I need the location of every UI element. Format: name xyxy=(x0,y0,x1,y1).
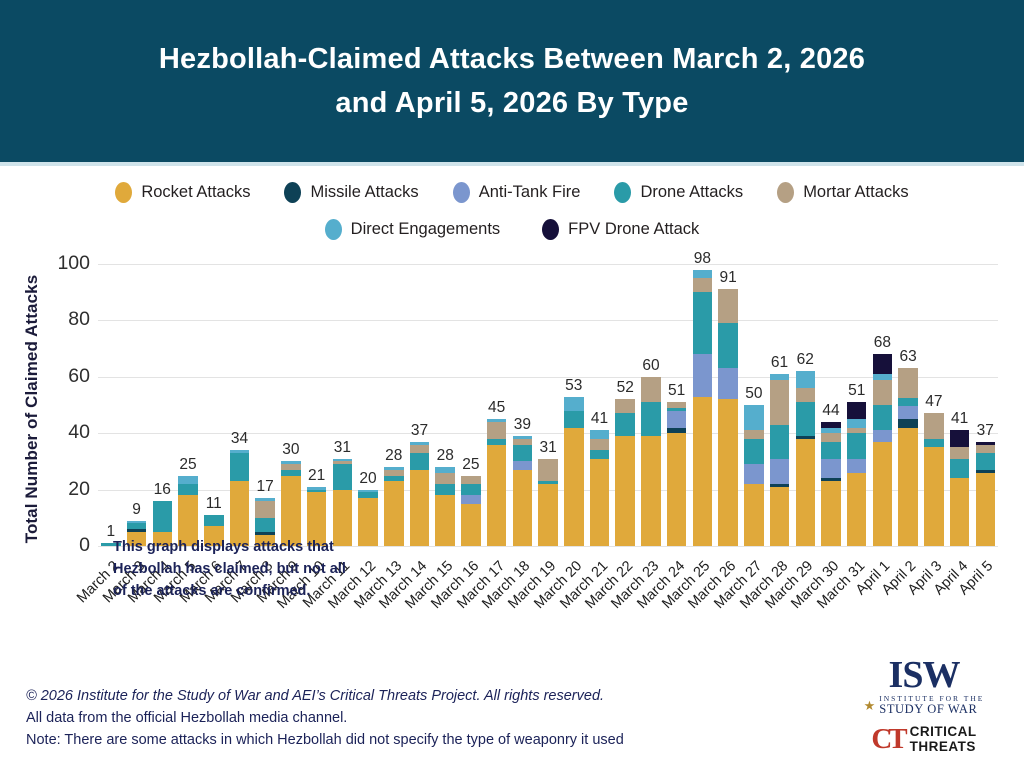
bar-column[interactable]: 30 xyxy=(278,264,304,546)
bar-segment-rocket-attacks[interactable] xyxy=(461,504,481,546)
bar-segment-rocket-attacks[interactable] xyxy=(770,487,790,546)
header-divider xyxy=(0,162,1024,166)
bar-total-label: 37 xyxy=(977,422,994,440)
bar-segment-mortar-attacks[interactable] xyxy=(461,476,481,484)
bar-segment-rocket-attacks[interactable] xyxy=(950,478,970,546)
bar-segment-rocket-attacks[interactable] xyxy=(538,484,558,546)
y-axis-tick-label: 0 xyxy=(28,534,90,557)
bar-column[interactable]: 44 xyxy=(818,264,844,546)
bar-segment-rocket-attacks[interactable] xyxy=(590,459,610,546)
legend-row-primary: Rocket AttacksMissile AttacksAnti-Tank F… xyxy=(115,182,908,203)
bar-segment-mortar-attacks[interactable] xyxy=(435,473,455,484)
bar-segment-anti-tank-fire[interactable] xyxy=(821,459,841,479)
bar-total-label: 44 xyxy=(822,402,839,420)
bar-column[interactable]: 17 xyxy=(252,264,278,546)
bar-total-label: 39 xyxy=(514,416,531,434)
legend-item-label: Rocket Attacks xyxy=(141,183,250,202)
bar-column[interactable]: 31 xyxy=(329,264,355,546)
bar-segment-rocket-attacks[interactable] xyxy=(898,428,918,546)
footer-note: Note: There are some attacks in which He… xyxy=(26,732,786,748)
legend-item-label: Direct Engagements xyxy=(351,220,501,239)
legend-swatch-icon xyxy=(614,182,631,203)
bar-segment-drone-attacks[interactable] xyxy=(770,425,790,459)
bar-stack[interactable]: 44 xyxy=(821,422,841,546)
bar-segment-fpv-drone-attack[interactable] xyxy=(847,402,867,419)
annotation-line-2: Hezbollah has claimed, but not all xyxy=(113,559,346,581)
bar-column[interactable]: 31 xyxy=(535,264,561,546)
legend-swatch-icon xyxy=(777,182,794,203)
bar-segment-drone-attacks[interactable] xyxy=(513,445,533,462)
y-axis-tick-label: 40 xyxy=(28,421,90,444)
bar-column[interactable]: 28 xyxy=(432,264,458,546)
bar-total-label: 17 xyxy=(257,478,274,496)
bar-segment-rocket-attacks[interactable] xyxy=(873,442,893,546)
bar-column[interactable]: 60 xyxy=(638,264,664,546)
bar-segment-drone-attacks[interactable] xyxy=(924,439,944,447)
bar-stack[interactable]: 68 xyxy=(873,354,893,546)
bar-segment-direct-engagements[interactable] xyxy=(693,270,713,278)
bar-total-label: 60 xyxy=(642,357,659,375)
bar-segment-drone-attacks[interactable] xyxy=(333,464,353,489)
legend-item-rocket-attacks[interactable]: Rocket Attacks xyxy=(115,182,250,203)
bar-segment-mortar-attacks[interactable] xyxy=(950,447,970,458)
bar-segment-mortar-attacks[interactable] xyxy=(693,278,713,292)
critical-threats-logo: CT CRITICAL THREATS xyxy=(844,725,1004,754)
isw-wordmark: ISW xyxy=(844,656,1004,694)
chart-container: Total Number of Claimed Attacks 02040608… xyxy=(0,254,1024,654)
bar-segment-direct-engagements[interactable] xyxy=(744,405,764,430)
legend-item-label: Drone Attacks xyxy=(640,183,743,202)
plot-area: 020406080100 191625113417302131202837282… xyxy=(98,264,998,546)
bar-stack[interactable]: 62 xyxy=(796,371,816,546)
bar-stack[interactable]: 37 xyxy=(976,442,996,546)
x-axis-label-slot: April 4 xyxy=(947,550,973,650)
legend-item-drone-attacks[interactable]: Drone Attacks xyxy=(614,182,743,203)
bar-column[interactable]: 51 xyxy=(844,264,870,546)
bar-total-label: 53 xyxy=(565,377,582,395)
bar-stack[interactable]: 31 xyxy=(538,459,558,546)
bar-column[interactable]: 37 xyxy=(407,264,433,546)
bar-column[interactable]: 20 xyxy=(355,264,381,546)
bar-segment-drone-attacks[interactable] xyxy=(796,402,816,436)
bar-total-label: 41 xyxy=(591,410,608,428)
bar-stack[interactable]: 25 xyxy=(461,476,481,547)
bar-segment-drone-attacks[interactable] xyxy=(153,501,173,532)
y-axis-tick-label: 60 xyxy=(28,365,90,388)
legend-swatch-icon xyxy=(542,219,559,240)
bar-segment-drone-attacks[interactable] xyxy=(435,484,455,495)
x-axis-label-slot: April 5 xyxy=(972,550,998,650)
legend-item-direct-engagements[interactable]: Direct Engagements xyxy=(325,219,501,240)
bar-total-label: 25 xyxy=(462,456,479,474)
legend-item-label: FPV Drone Attack xyxy=(568,220,699,239)
bar-segment-mortar-attacks[interactable] xyxy=(976,445,996,453)
legend-item-label: Anti-Tank Fire xyxy=(479,183,581,202)
bar-total-label: 61 xyxy=(771,354,788,372)
bar-column[interactable]: 41 xyxy=(947,264,973,546)
bar-total-label: 62 xyxy=(797,351,814,369)
y-axis-tick-label: 100 xyxy=(28,252,90,275)
bar-total-label: 68 xyxy=(874,334,891,352)
bar-stack[interactable]: 39 xyxy=(513,436,533,546)
bar-total-label: 50 xyxy=(745,385,762,403)
bar-column[interactable]: 41 xyxy=(587,264,613,546)
annotation-line-3: of the attacks are confirmed. xyxy=(113,581,346,603)
bar-total-label: 47 xyxy=(925,393,942,411)
bar-segment-drone-attacks[interactable] xyxy=(693,292,713,354)
bar-column[interactable]: 25 xyxy=(458,264,484,546)
bar-stack[interactable]: 52 xyxy=(615,399,635,546)
bar-segment-direct-engagements[interactable] xyxy=(847,419,867,427)
bar-column[interactable]: 39 xyxy=(510,264,536,546)
bar-segment-direct-engagements[interactable] xyxy=(564,397,584,411)
bar-total-label: 21 xyxy=(308,467,325,485)
y-axis-tick-label: 20 xyxy=(28,478,90,501)
legend-item-missile-attacks[interactable]: Missile Attacks xyxy=(284,182,418,203)
bar-column[interactable]: 50 xyxy=(741,264,767,546)
legend-swatch-icon xyxy=(115,182,132,203)
bar-total-label: 63 xyxy=(900,348,917,366)
isw-tagline-row: ★ INSTITUTE FOR THE STUDY OF WAR xyxy=(844,695,1004,716)
bar-column[interactable]: 28 xyxy=(381,264,407,546)
bar-segment-drone-attacks[interactable] xyxy=(590,450,610,458)
y-axis-tick-label: 80 xyxy=(28,308,90,331)
bar-stack[interactable]: 25 xyxy=(178,476,198,547)
bar-column[interactable]: 1 xyxy=(98,264,124,546)
bar-stack[interactable]: 53 xyxy=(564,397,584,546)
bar-segment-fpv-drone-attack[interactable] xyxy=(873,354,893,374)
legend-swatch-icon xyxy=(284,182,301,203)
bar-segment-anti-tank-fire[interactable] xyxy=(873,430,893,441)
bar-segment-anti-tank-fire[interactable] xyxy=(770,459,790,484)
chart-annotation: This graph displays attacks that Hezboll… xyxy=(113,537,346,602)
bar-stack[interactable]: 37 xyxy=(410,442,430,546)
bar-segment-drone-attacks[interactable] xyxy=(898,398,918,406)
bar-segment-anti-tank-fire[interactable] xyxy=(718,368,738,399)
bar-segment-anti-tank-fire[interactable] xyxy=(513,461,533,469)
bar-segment-direct-engagements[interactable] xyxy=(178,476,198,484)
bar-segment-anti-tank-fire[interactable] xyxy=(693,354,713,396)
bar-segment-mortar-attacks[interactable] xyxy=(744,430,764,438)
footer: © 2026 Institute for the Study of War an… xyxy=(26,688,786,754)
bar-segment-rocket-attacks[interactable] xyxy=(615,436,635,546)
legend-item-anti-tank-fire[interactable]: Anti-Tank Fire xyxy=(453,182,581,203)
bar-stack[interactable]: 28 xyxy=(435,467,455,546)
y-axis-title: Total Number of Claimed Attacks xyxy=(22,259,42,559)
bar-total-label: 11 xyxy=(206,495,222,513)
legend-swatch-icon xyxy=(325,219,342,240)
bar-stack[interactable]: 41 xyxy=(950,430,970,546)
bar-column[interactable]: 37 xyxy=(972,264,998,546)
bar-segment-rocket-attacks[interactable] xyxy=(435,495,455,546)
bar-segment-mortar-attacks[interactable] xyxy=(924,413,944,438)
star-icon: ★ xyxy=(864,699,876,712)
bar-total-label: 51 xyxy=(848,382,865,400)
bar-segment-rocket-attacks[interactable] xyxy=(796,439,816,546)
bar-total-label: 41 xyxy=(951,410,968,428)
x-axis-label-slot: April 3 xyxy=(921,550,947,650)
bar-segment-drone-attacks[interactable] xyxy=(230,453,250,481)
bar-stack[interactable]: 91 xyxy=(718,289,738,546)
bar-column[interactable]: 61 xyxy=(767,264,793,546)
bar-column[interactable]: 34 xyxy=(227,264,253,546)
bar-stack[interactable]: 61 xyxy=(770,374,790,546)
ct-monogram: CT xyxy=(871,725,903,754)
bar-segment-mortar-attacks[interactable] xyxy=(615,399,635,413)
bar-segment-rocket-attacks[interactable] xyxy=(641,436,661,546)
bar-segment-drone-attacks[interactable] xyxy=(821,442,841,459)
bar-segment-mortar-attacks[interactable] xyxy=(538,459,558,482)
bar-total-label: 31 xyxy=(334,439,351,457)
bar-segment-drone-attacks[interactable] xyxy=(178,484,198,495)
page-title-line-1: Hezbollah-Claimed Attacks Between March … xyxy=(159,37,865,81)
bar-segment-missile-attacks[interactable] xyxy=(898,419,918,427)
x-axis-label-slot: March 31 xyxy=(844,550,870,650)
bar-column[interactable]: 9 xyxy=(124,264,150,546)
bar-stack[interactable]: 28 xyxy=(384,467,404,546)
bar-segment-drone-attacks[interactable] xyxy=(410,453,430,470)
bar-stack[interactable]: 51 xyxy=(847,402,867,546)
bar-segment-drone-attacks[interactable] xyxy=(873,405,893,430)
footer-copyright: © 2026 Institute for the Study of War an… xyxy=(26,688,786,704)
bar-stack[interactable]: 34 xyxy=(230,450,250,546)
bar-segment-rocket-attacks[interactable] xyxy=(281,476,301,546)
legend-item-mortar-attacks[interactable]: Mortar Attacks xyxy=(777,182,908,203)
bar-stack[interactable]: 45 xyxy=(487,419,507,546)
bar-segment-drone-attacks[interactable] xyxy=(461,484,481,495)
bar-segment-rocket-attacks[interactable] xyxy=(667,433,687,546)
bar-segment-direct-engagements[interactable] xyxy=(796,371,816,388)
bar-segment-rocket-attacks[interactable] xyxy=(564,428,584,546)
bar-segment-mortar-attacks[interactable] xyxy=(770,380,790,425)
bar-total-label: 45 xyxy=(488,399,505,417)
bar-column[interactable]: 52 xyxy=(612,264,638,546)
bar-segment-mortar-attacks[interactable] xyxy=(410,445,430,453)
bar-segment-mortar-attacks[interactable] xyxy=(641,377,661,402)
bar-segment-mortar-attacks[interactable] xyxy=(898,368,918,398)
page-title-line-2: and April 5, 2026 By Type xyxy=(335,81,688,125)
bar-column[interactable]: 62 xyxy=(792,264,818,546)
bar-total-label: 16 xyxy=(154,481,171,499)
bar-column[interactable]: 45 xyxy=(484,264,510,546)
bar-segment-drone-attacks[interactable] xyxy=(976,453,996,470)
chart-legend: Rocket AttacksMissile AttacksAnti-Tank F… xyxy=(0,182,1024,240)
bar-segment-fpv-drone-attack[interactable] xyxy=(950,430,970,447)
bar-total-label: 34 xyxy=(231,430,248,448)
bar-column[interactable]: 11 xyxy=(201,264,227,546)
bar-segment-mortar-attacks[interactable] xyxy=(255,501,275,518)
annotation-line-1: This graph displays attacks that xyxy=(113,537,346,559)
bar-column[interactable]: 16 xyxy=(149,264,175,546)
bar-segment-rocket-attacks[interactable] xyxy=(513,470,533,546)
bar-segment-drone-attacks[interactable] xyxy=(950,459,970,479)
bar-segment-drone-attacks[interactable] xyxy=(564,411,584,428)
bar-total-label: 28 xyxy=(385,447,402,465)
bar-segment-drone-attacks[interactable] xyxy=(204,515,224,526)
bar-stack[interactable]: 60 xyxy=(641,377,661,546)
bar-segment-anti-tank-fire[interactable] xyxy=(744,464,764,484)
bar-total-label: 20 xyxy=(359,470,376,488)
bar-column[interactable]: 53 xyxy=(561,264,587,546)
bar-total-label: 28 xyxy=(437,447,454,465)
bar-total-label: 51 xyxy=(668,382,685,400)
bar-column[interactable]: 63 xyxy=(895,264,921,546)
bar-segment-rocket-attacks[interactable] xyxy=(384,481,404,546)
bar-segment-drone-attacks[interactable] xyxy=(615,413,635,436)
bar-segment-rocket-attacks[interactable] xyxy=(718,399,738,546)
bar-segment-rocket-attacks[interactable] xyxy=(358,498,378,546)
bar-segment-anti-tank-fire[interactable] xyxy=(847,459,867,473)
bar-stack[interactable]: 98 xyxy=(693,270,713,546)
bar-segment-rocket-attacks[interactable] xyxy=(487,445,507,547)
bar-segment-rocket-attacks[interactable] xyxy=(410,470,430,546)
bar-segment-direct-engagements[interactable] xyxy=(590,430,610,438)
bar-segment-anti-tank-fire[interactable] xyxy=(461,495,481,503)
bar-column[interactable]: 47 xyxy=(921,264,947,546)
ct-wordmark-line-2: THREATS xyxy=(910,740,977,754)
bar-segment-drone-attacks[interactable] xyxy=(641,402,661,436)
bar-stack[interactable]: 31 xyxy=(333,459,353,546)
isw-logo: ISW ★ INSTITUTE FOR THE STUDY OF WAR xyxy=(844,656,1004,716)
footer-source: All data from the official Hezbollah med… xyxy=(26,710,786,726)
logo-group: ISW ★ INSTITUTE FOR THE STUDY OF WAR CT … xyxy=(844,656,1004,754)
bar-segment-anti-tank-fire[interactable] xyxy=(667,411,687,428)
bar-total-label: 91 xyxy=(719,269,736,287)
ct-wordmark: CRITICAL THREATS xyxy=(910,725,977,754)
bar-column[interactable]: 91 xyxy=(715,264,741,546)
bar-segment-drone-attacks[interactable] xyxy=(847,433,867,458)
bar-segment-rocket-attacks[interactable] xyxy=(744,484,764,546)
bar-stack[interactable]: 41 xyxy=(590,430,610,546)
bar-total-label: 9 xyxy=(132,501,141,519)
bar-column[interactable]: 21 xyxy=(304,264,330,546)
legend-item-label: Missile Attacks xyxy=(310,183,418,202)
bar-segment-rocket-attacks[interactable] xyxy=(847,473,867,546)
page-header: Hezbollah-Claimed Attacks Between March … xyxy=(0,0,1024,162)
bar-total-label: 52 xyxy=(617,379,634,397)
legend-row-secondary: Direct EngagementsFPV Drone Attack xyxy=(325,219,700,240)
bar-stack[interactable]: 30 xyxy=(281,461,301,546)
isw-tagline-line-2: STUDY OF WAR xyxy=(879,703,984,716)
bar-segment-mortar-attacks[interactable] xyxy=(873,380,893,405)
bar-segment-mortar-attacks[interactable] xyxy=(590,439,610,450)
bar-total-label: 98 xyxy=(694,250,711,268)
bar-stack[interactable]: 63 xyxy=(898,368,918,546)
x-axis-label-slot: April 2 xyxy=(895,550,921,650)
bar-segment-drone-attacks[interactable] xyxy=(744,439,764,464)
x-axis-label-slot: April 1 xyxy=(870,550,896,650)
bar-stack[interactable]: 51 xyxy=(667,402,687,546)
bar-stack[interactable]: 47 xyxy=(924,413,944,546)
bar-segment-mortar-attacks[interactable] xyxy=(487,422,507,439)
bar-segment-rocket-attacks[interactable] xyxy=(821,481,841,546)
legend-swatch-icon xyxy=(453,182,470,203)
ct-wordmark-line-1: CRITICAL xyxy=(910,725,977,739)
bar-segment-drone-attacks[interactable] xyxy=(255,518,275,532)
bar-segment-rocket-attacks[interactable] xyxy=(924,447,944,546)
bar-segment-drone-attacks[interactable] xyxy=(718,323,738,368)
bar-column[interactable]: 51 xyxy=(664,264,690,546)
bar-total-label: 37 xyxy=(411,422,428,440)
legend-item-fpv-drone-attack[interactable]: FPV Drone Attack xyxy=(542,219,699,240)
bar-stack[interactable]: 50 xyxy=(744,405,764,546)
bar-segment-rocket-attacks[interactable] xyxy=(693,397,713,546)
bar-total-label: 30 xyxy=(282,441,299,459)
bar-column[interactable]: 68 xyxy=(870,264,896,546)
bar-total-label: 25 xyxy=(179,456,196,474)
legend-item-label: Mortar Attacks xyxy=(803,183,908,202)
bar-segment-mortar-attacks[interactable] xyxy=(718,289,738,323)
bar-segment-anti-tank-fire[interactable] xyxy=(898,406,918,419)
bar-segment-mortar-attacks[interactable] xyxy=(796,388,816,402)
bar-stack[interactable]: 20 xyxy=(358,490,378,546)
bar-segment-rocket-attacks[interactable] xyxy=(976,473,996,546)
isw-tagline: INSTITUTE FOR THE STUDY OF WAR xyxy=(879,695,984,716)
bar-series-group: 1916251134173021312028372825453931534152… xyxy=(98,264,998,546)
bar-segment-mortar-attacks[interactable] xyxy=(821,433,841,441)
bar-column[interactable]: 98 xyxy=(690,264,716,546)
bar-total-label: 31 xyxy=(539,439,556,457)
bar-column[interactable]: 25 xyxy=(175,264,201,546)
